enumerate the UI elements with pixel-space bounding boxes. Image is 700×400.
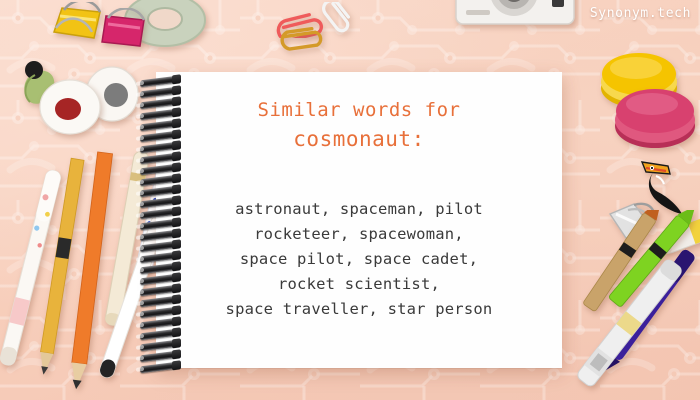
screenshot-root: Similar words for cosmonaut: astronaut, … bbox=[0, 0, 700, 400]
synonym-line: rocketeer, spacewoman, bbox=[156, 222, 562, 247]
card-heading: Similar words for cosmonaut: bbox=[156, 96, 562, 154]
synonym-line: space traveller, star person bbox=[156, 297, 562, 322]
brand-watermark: Synonym.tech bbox=[590, 6, 691, 21]
synonym-list: astronaut, spaceman, pilot rocketeer, sp… bbox=[156, 197, 562, 322]
search-term: cosmonaut: bbox=[156, 125, 562, 154]
macaron-pink bbox=[610, 82, 700, 152]
title-prefix: Similar words for bbox=[156, 96, 562, 125]
paperclip-gold bbox=[276, 24, 330, 52]
synonym-line: rocket scientist, bbox=[156, 272, 562, 297]
synonym-line: astronaut, spaceman, pilot bbox=[156, 197, 562, 222]
eraser-white-red bbox=[28, 76, 112, 138]
crayons-and-markers-group bbox=[566, 210, 700, 400]
camera bbox=[452, 0, 578, 36]
binder-clip-magenta bbox=[96, 8, 154, 52]
synonym-line: space pilot, space cadet, bbox=[156, 247, 562, 272]
